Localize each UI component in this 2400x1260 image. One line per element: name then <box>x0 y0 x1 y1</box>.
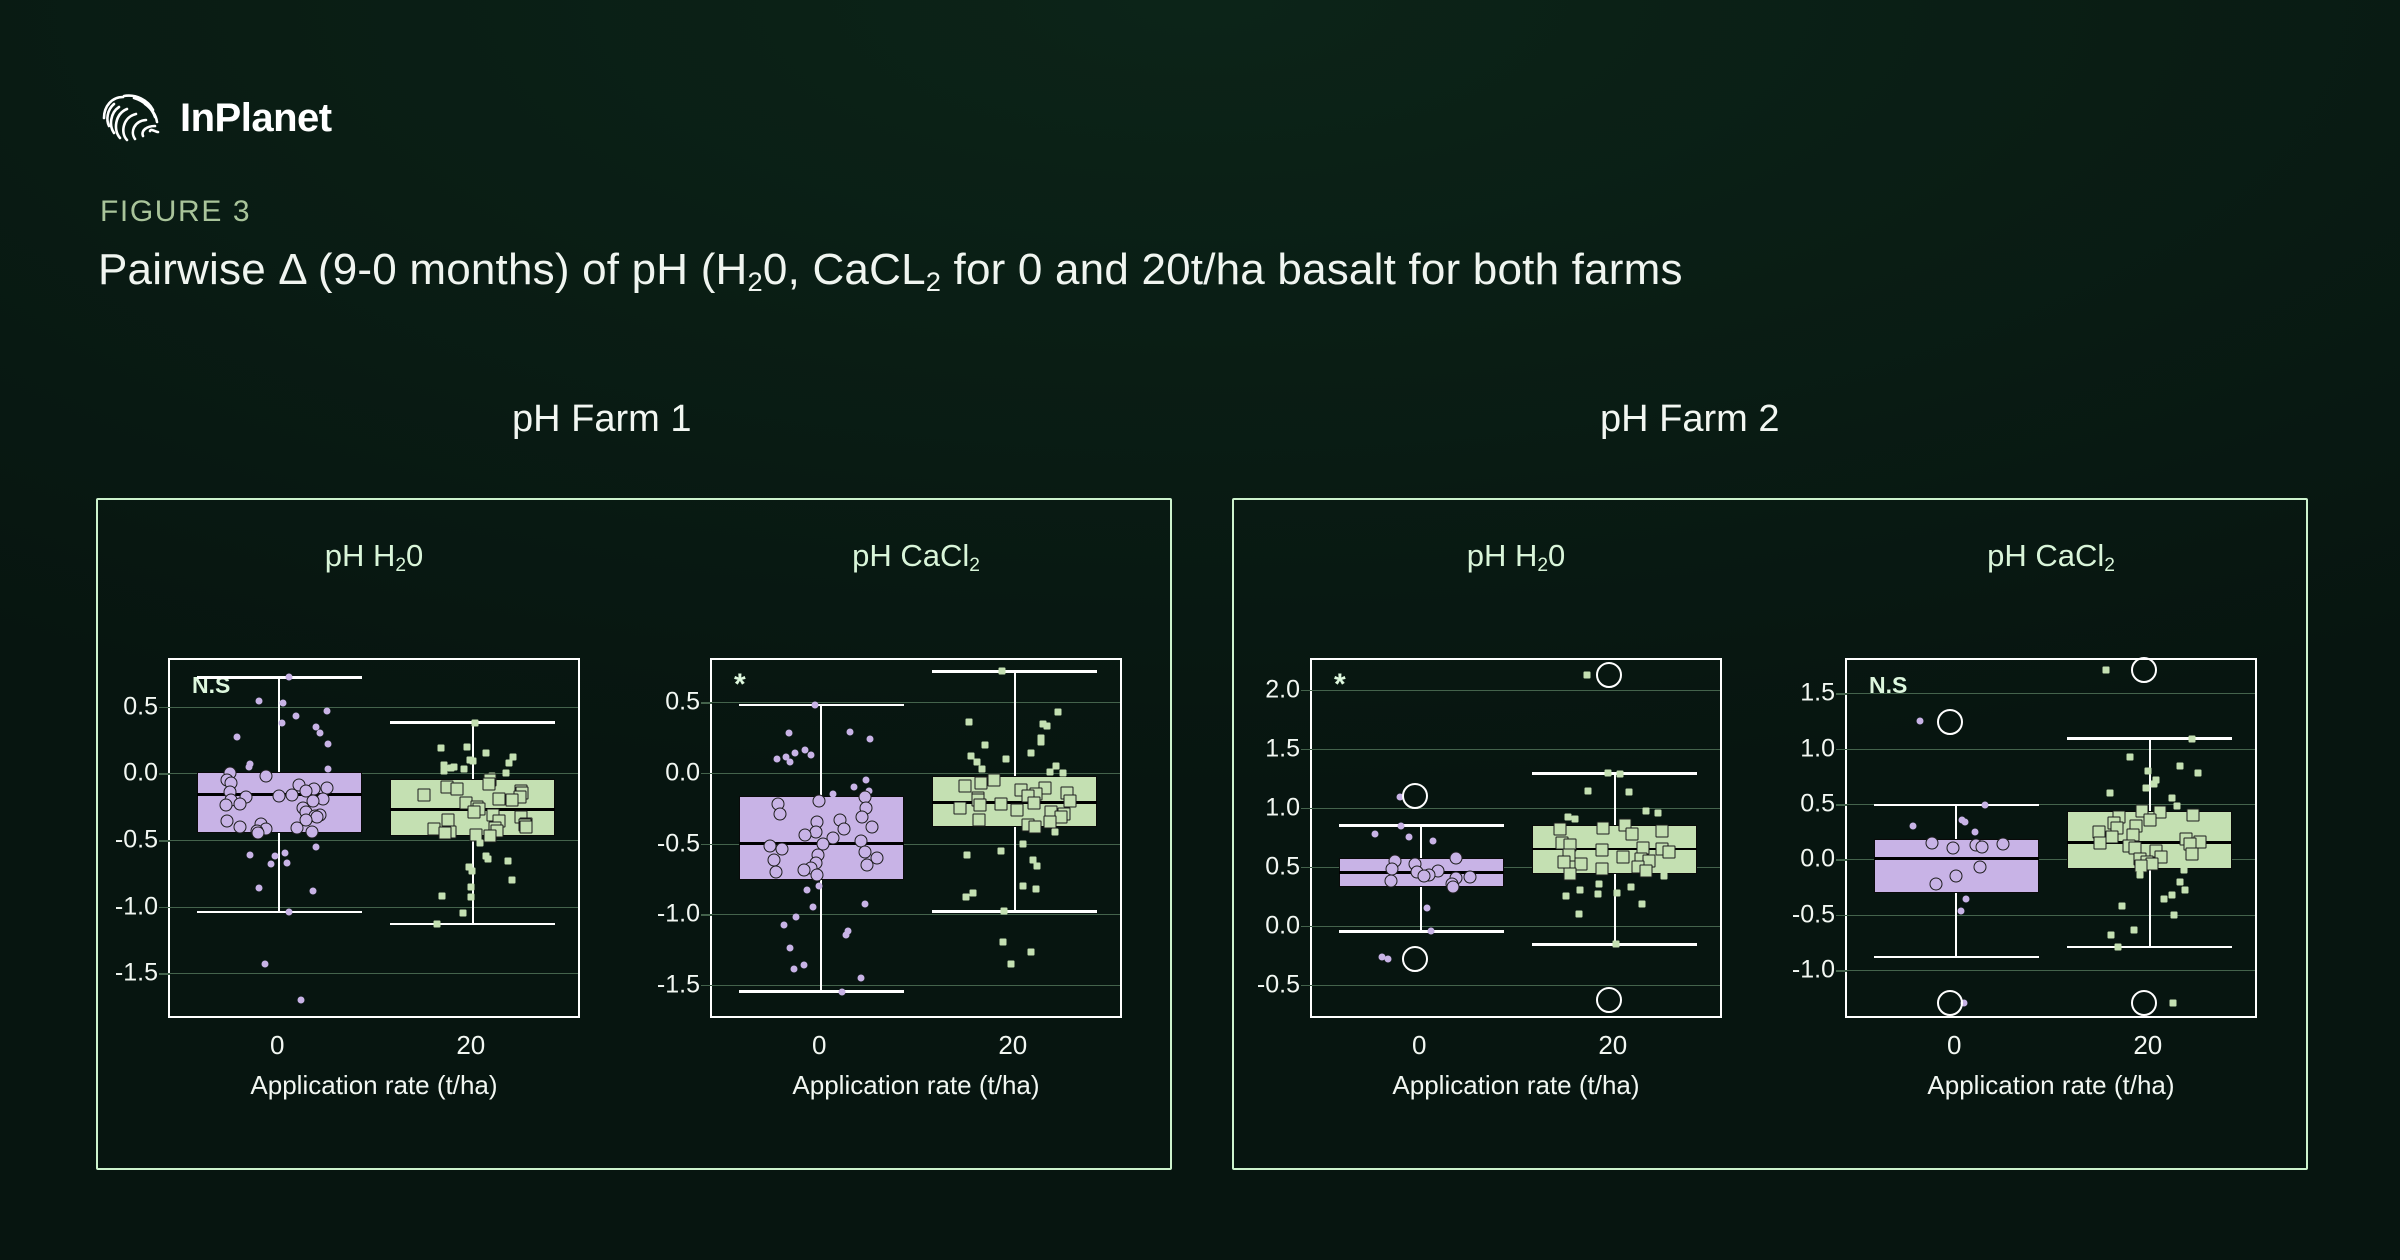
data-point <box>1663 846 1676 859</box>
data-point <box>1564 867 1577 880</box>
data-point <box>483 778 496 791</box>
data-point <box>1372 830 1379 837</box>
data-point <box>1605 770 1612 777</box>
subplot-title-text: pH H <box>325 538 396 573</box>
data-point <box>1584 788 1591 795</box>
data-point <box>460 766 467 773</box>
outlier-ring <box>2131 657 2157 683</box>
ytick-mark <box>1836 859 1847 861</box>
data-point <box>1642 808 1649 815</box>
data-point <box>476 839 483 846</box>
ytick-mark <box>159 973 170 975</box>
gridline <box>1312 808 1720 809</box>
axes-farm2-h2o: 2.01.51.00.50.0-0.5* <box>1310 658 1722 1018</box>
significance-label-farm1-cacl2: * <box>734 668 746 702</box>
page-title: Pairwise Δ (9-0 months) of pH (H20, CaCL… <box>98 245 1683 298</box>
data-point <box>279 719 286 726</box>
data-point <box>468 806 481 819</box>
data-point <box>469 758 476 765</box>
data-point <box>786 730 793 737</box>
data-point <box>290 822 303 835</box>
data-point <box>272 790 285 803</box>
gridline <box>170 707 578 708</box>
data-point <box>974 799 987 812</box>
ytick-mark <box>159 840 170 842</box>
data-point <box>1553 822 1566 835</box>
xtick-label: 0 <box>812 1030 826 1061</box>
data-point <box>2107 931 2114 938</box>
data-point <box>781 922 788 929</box>
data-point <box>1962 818 1969 825</box>
whisker-cap <box>1874 804 2039 807</box>
whisker-cap <box>932 670 1097 673</box>
data-point <box>861 858 874 871</box>
xtick-label: 0 <box>1947 1030 1961 1061</box>
data-point <box>2182 887 2189 894</box>
data-point <box>1910 823 1917 830</box>
data-point <box>418 788 431 801</box>
data-point <box>1450 852 1463 865</box>
outlier-ring <box>1937 709 1963 735</box>
data-point <box>1981 802 1988 809</box>
data-point <box>811 868 824 881</box>
data-point <box>2106 789 2113 796</box>
xtick-label: 20 <box>998 1030 1027 1061</box>
data-point <box>1976 841 1989 854</box>
data-point <box>469 867 476 874</box>
data-point <box>787 758 794 765</box>
data-point <box>975 776 988 789</box>
data-point <box>437 745 444 752</box>
ytick-mark <box>1836 693 1847 695</box>
data-point <box>2176 878 2183 885</box>
data-point <box>280 699 287 706</box>
data-point <box>1063 795 1076 808</box>
ytick-mark <box>1836 970 1847 972</box>
ytick-mark <box>1301 985 1312 987</box>
outlier-ring <box>1402 783 1428 809</box>
brand-wordmark: InPlanet <box>180 96 332 141</box>
gridline <box>1847 693 2255 694</box>
data-point <box>801 961 808 968</box>
median-line <box>1874 857 2039 860</box>
whisker-cap <box>1339 824 1504 827</box>
data-point <box>1616 851 1629 864</box>
subplot-title-text: pH CaCl <box>852 538 969 573</box>
ytick-mark <box>1301 808 1312 810</box>
data-point <box>440 767 447 774</box>
data-point <box>804 887 811 894</box>
data-point <box>790 966 797 973</box>
data-point <box>2186 809 2199 822</box>
whisker-cap <box>739 990 904 993</box>
data-point <box>979 765 986 772</box>
data-point <box>1055 810 1068 823</box>
data-point <box>2118 902 2125 909</box>
data-point <box>974 758 981 765</box>
data-point <box>1612 941 1619 948</box>
whisker-cap <box>197 676 362 679</box>
data-point <box>467 894 474 901</box>
gridline <box>170 973 578 974</box>
ytick-label: 0.5 <box>665 688 700 717</box>
subplot-title-suffix: 0 <box>406 538 423 573</box>
data-point <box>1446 880 1459 893</box>
ytick-label: -0.5 <box>657 829 700 858</box>
data-point <box>792 913 799 920</box>
data-point <box>1596 862 1609 875</box>
title-part-mid: 0, CaCL <box>763 245 926 294</box>
outlier-ring <box>1402 946 1428 972</box>
data-point <box>468 883 475 890</box>
xtick-label: 0 <box>1412 1030 1426 1061</box>
outlier-ring <box>1596 987 1622 1013</box>
significance-label-farm2-cacl2: N.S <box>1869 672 1907 699</box>
xaxis-title-farm1-h2o: Application rate (t/ha) <box>168 1070 580 1101</box>
ytick-mark <box>1836 804 1847 806</box>
ytick-mark <box>701 914 712 916</box>
data-point <box>1654 810 1661 817</box>
whisker-cap <box>932 910 1097 913</box>
data-point <box>1613 889 1620 896</box>
data-point <box>997 847 1004 854</box>
outlier-ring <box>2131 990 2157 1016</box>
xaxis-title-farm2-h2o: Application rate (t/ha) <box>1310 1070 1722 1101</box>
data-point <box>483 750 490 757</box>
data-point <box>519 820 532 833</box>
data-point <box>2127 754 2134 761</box>
gridline <box>712 985 1120 986</box>
data-point <box>1958 908 1965 915</box>
data-point <box>858 846 871 859</box>
data-point <box>459 910 466 917</box>
data-point <box>1424 904 1431 911</box>
data-point <box>763 840 776 853</box>
data-point <box>964 851 971 858</box>
outlier-ring <box>1937 990 1963 1016</box>
data-point <box>233 820 246 833</box>
data-point <box>847 729 854 736</box>
data-point <box>1405 834 1412 841</box>
data-point <box>1044 816 1057 829</box>
data-point <box>1974 861 1987 874</box>
ytick-label: -1.5 <box>115 959 158 988</box>
data-point <box>2143 813 2156 826</box>
ytick-label: 1.0 <box>1800 734 1835 763</box>
data-point <box>1003 755 1010 762</box>
data-point <box>851 784 858 791</box>
data-point <box>2160 896 2167 903</box>
data-point <box>1925 836 1938 849</box>
outlier-ring <box>1596 662 1622 688</box>
xtick-label: 0 <box>270 1030 284 1061</box>
subplot-title-subscript: 2 <box>1537 555 1548 576</box>
data-point <box>1033 885 1040 892</box>
whisker-cap <box>197 911 362 914</box>
data-point <box>506 759 513 766</box>
subplot-title-farm1-h2o: pH H20 <box>168 538 580 577</box>
data-point <box>272 853 279 860</box>
axes-farm1-cacl2: 0.50.0-0.5-1.0-1.5* <box>710 658 1122 1018</box>
data-point <box>1596 821 1609 834</box>
whisker-cap <box>1339 930 1504 933</box>
data-point <box>1575 910 1582 917</box>
data-point <box>959 779 972 792</box>
data-point <box>867 736 874 743</box>
data-point <box>2189 735 2196 742</box>
data-point <box>2114 943 2121 950</box>
data-point <box>855 810 868 823</box>
data-point <box>830 791 837 798</box>
xaxis-title-farm1-cacl2: Application rate (t/ha) <box>710 1070 1122 1101</box>
data-point <box>1562 893 1569 900</box>
data-point <box>1417 870 1430 883</box>
data-point <box>1660 873 1667 880</box>
data-point <box>484 830 497 843</box>
subplot-title-farm1-cacl2: pH CaCl2 <box>710 538 1122 577</box>
ytick-mark <box>159 773 170 775</box>
data-point <box>1027 949 1034 956</box>
data-point <box>866 820 879 833</box>
ytick-label: 0.0 <box>1800 845 1835 874</box>
data-point <box>2151 781 2158 788</box>
data-point <box>1962 896 1969 903</box>
data-point <box>233 798 246 811</box>
whisker-cap <box>1532 772 1697 775</box>
data-point <box>1997 837 2010 850</box>
subplot-title-text: pH CaCl <box>1987 538 2104 573</box>
data-point <box>2137 871 2144 878</box>
data-point <box>297 997 304 1004</box>
subplot-title-farm2-cacl2: pH CaCl2 <box>1845 538 2257 577</box>
ytick-mark <box>701 985 712 987</box>
data-point <box>1429 837 1436 844</box>
data-point <box>1008 960 1015 967</box>
title-sub-2: 2 <box>926 266 941 297</box>
data-point <box>505 858 512 865</box>
data-point <box>812 702 819 709</box>
whisker-cap <box>390 923 555 926</box>
data-point <box>286 788 299 801</box>
data-point <box>1060 769 1067 776</box>
significance-label-farm2-h2o: * <box>1334 668 1346 702</box>
subplot-title-text: pH H <box>1467 538 1538 573</box>
ytick-label: -0.5 <box>1792 900 1835 929</box>
gridline <box>170 907 578 908</box>
ytick-mark <box>701 702 712 704</box>
data-point <box>2180 867 2187 874</box>
ytick-mark <box>1301 926 1312 928</box>
ytick-label: 0.0 <box>1265 911 1300 940</box>
ytick-label: 0.5 <box>123 692 158 721</box>
ytick-label: 1.5 <box>1265 734 1300 763</box>
data-point <box>2103 666 2110 673</box>
ytick-label: 0.5 <box>1265 852 1300 881</box>
data-point <box>1052 829 1059 836</box>
ytick-label: 0.0 <box>665 758 700 787</box>
data-point <box>799 829 812 842</box>
data-point <box>463 743 470 750</box>
brand-logo: InPlanet <box>98 88 332 148</box>
data-point <box>505 794 518 807</box>
data-point <box>283 859 290 866</box>
data-point <box>485 855 492 862</box>
gridline <box>1847 749 2255 750</box>
data-point <box>1043 723 1050 730</box>
ytick-label: -1.0 <box>1792 956 1835 985</box>
ytick-mark <box>1301 690 1312 692</box>
ytick-label: 0.5 <box>1800 790 1835 819</box>
ytick-mark <box>159 907 170 909</box>
xtick-label: 20 <box>456 1030 485 1061</box>
data-point <box>256 885 263 892</box>
data-point <box>1639 865 1652 878</box>
data-point <box>245 763 252 770</box>
data-point <box>2105 831 2118 844</box>
data-point <box>293 713 300 720</box>
data-point <box>450 783 463 796</box>
gridline <box>1312 985 1720 986</box>
data-point <box>492 792 505 805</box>
ytick-label: 0.0 <box>123 759 158 788</box>
data-point <box>252 827 265 840</box>
data-point <box>1011 803 1024 816</box>
data-point <box>325 741 332 748</box>
title-part-pre: Pairwise Δ (9-0 months) of pH (H <box>98 245 748 294</box>
data-point <box>1464 871 1477 884</box>
whisker-cap <box>739 704 904 707</box>
data-point <box>839 988 846 995</box>
gridline <box>1312 926 1720 927</box>
data-point <box>234 734 241 741</box>
gridline <box>1312 749 1720 750</box>
ytick-label: -1.0 <box>115 892 158 921</box>
data-point <box>1583 672 1590 679</box>
data-point <box>2171 911 2178 918</box>
subplot-title-subscript: 2 <box>395 555 406 576</box>
data-point <box>317 730 324 737</box>
data-point <box>285 674 292 681</box>
xtick-label: 20 <box>1598 1030 1627 1061</box>
whisker-cap <box>2067 946 2232 949</box>
data-point <box>792 750 799 757</box>
subplot-title-subscript: 2 <box>969 555 980 576</box>
data-point <box>774 755 781 762</box>
data-point <box>1054 709 1061 716</box>
data-point <box>503 770 510 777</box>
data-point <box>1572 816 1579 823</box>
data-point <box>1594 890 1601 897</box>
ytick-mark <box>701 844 712 846</box>
ytick-label: -0.5 <box>1257 970 1300 999</box>
data-point <box>988 774 1001 787</box>
subplot-title-farm2-h2o: pH H20 <box>1310 538 1722 577</box>
data-point <box>261 961 268 968</box>
data-point <box>963 894 970 901</box>
data-point <box>439 893 446 900</box>
data-point <box>1638 901 1645 908</box>
data-point <box>999 939 1006 946</box>
data-point <box>1047 768 1054 775</box>
figure-label: FIGURE 3 <box>100 195 251 229</box>
data-point <box>843 932 850 939</box>
data-point <box>267 861 274 868</box>
data-point <box>508 877 515 884</box>
data-point <box>965 719 972 726</box>
ytick-label: 2.0 <box>1265 675 1300 704</box>
data-point <box>1028 750 1035 757</box>
data-point <box>1033 863 1040 870</box>
data-point <box>2145 767 2152 774</box>
data-point <box>2130 927 2137 934</box>
data-point <box>2170 1000 2177 1007</box>
gridline <box>1312 690 1720 691</box>
data-point <box>220 799 233 812</box>
data-point <box>1001 908 1008 915</box>
data-point <box>981 741 988 748</box>
data-point <box>1656 825 1669 838</box>
data-point <box>2169 795 2176 802</box>
data-point <box>1397 823 1404 830</box>
inplanet-wave-logo-icon <box>98 88 162 148</box>
data-point <box>434 921 441 928</box>
data-point <box>472 719 479 726</box>
data-point <box>857 974 864 981</box>
data-point <box>305 826 318 839</box>
data-point <box>995 798 1008 811</box>
data-point <box>1576 887 1583 894</box>
whisker-cap <box>1874 956 2039 959</box>
data-point <box>1385 874 1398 887</box>
data-point <box>313 843 320 850</box>
ytick-label: -1.5 <box>657 970 700 999</box>
data-point <box>439 827 452 840</box>
data-point <box>286 909 293 916</box>
data-point <box>838 823 851 836</box>
xaxis-title-farm2-cacl2: Application rate (t/ha) <box>1845 1070 2257 1101</box>
farm1-title: pH Farm 1 <box>512 398 691 441</box>
data-point <box>815 882 822 889</box>
data-point <box>1625 789 1632 796</box>
ytick-label: -0.5 <box>115 826 158 855</box>
ytick-mark <box>701 773 712 775</box>
data-point <box>260 770 273 783</box>
data-point <box>809 904 816 911</box>
data-point <box>1617 771 1624 778</box>
data-point <box>813 795 826 808</box>
data-point <box>970 889 977 896</box>
data-point <box>999 668 1006 675</box>
data-point <box>769 865 782 878</box>
data-point <box>1596 881 1603 888</box>
ytick-label: 1.5 <box>1800 679 1835 708</box>
data-point <box>1929 877 1942 890</box>
data-point <box>309 887 316 894</box>
ytick-label: 1.0 <box>1265 793 1300 822</box>
data-point <box>1385 955 1392 962</box>
data-point <box>2185 847 2198 860</box>
data-point <box>972 813 985 826</box>
farm2-title: pH Farm 2 <box>1600 398 1779 441</box>
data-point <box>1946 842 1959 855</box>
ytick-mark <box>1836 749 1847 751</box>
data-point <box>324 707 331 714</box>
data-point <box>1916 717 1923 724</box>
data-point <box>1028 796 1041 809</box>
data-point <box>797 864 810 877</box>
whisker-cap <box>2067 737 2232 740</box>
data-point <box>1972 828 1979 835</box>
